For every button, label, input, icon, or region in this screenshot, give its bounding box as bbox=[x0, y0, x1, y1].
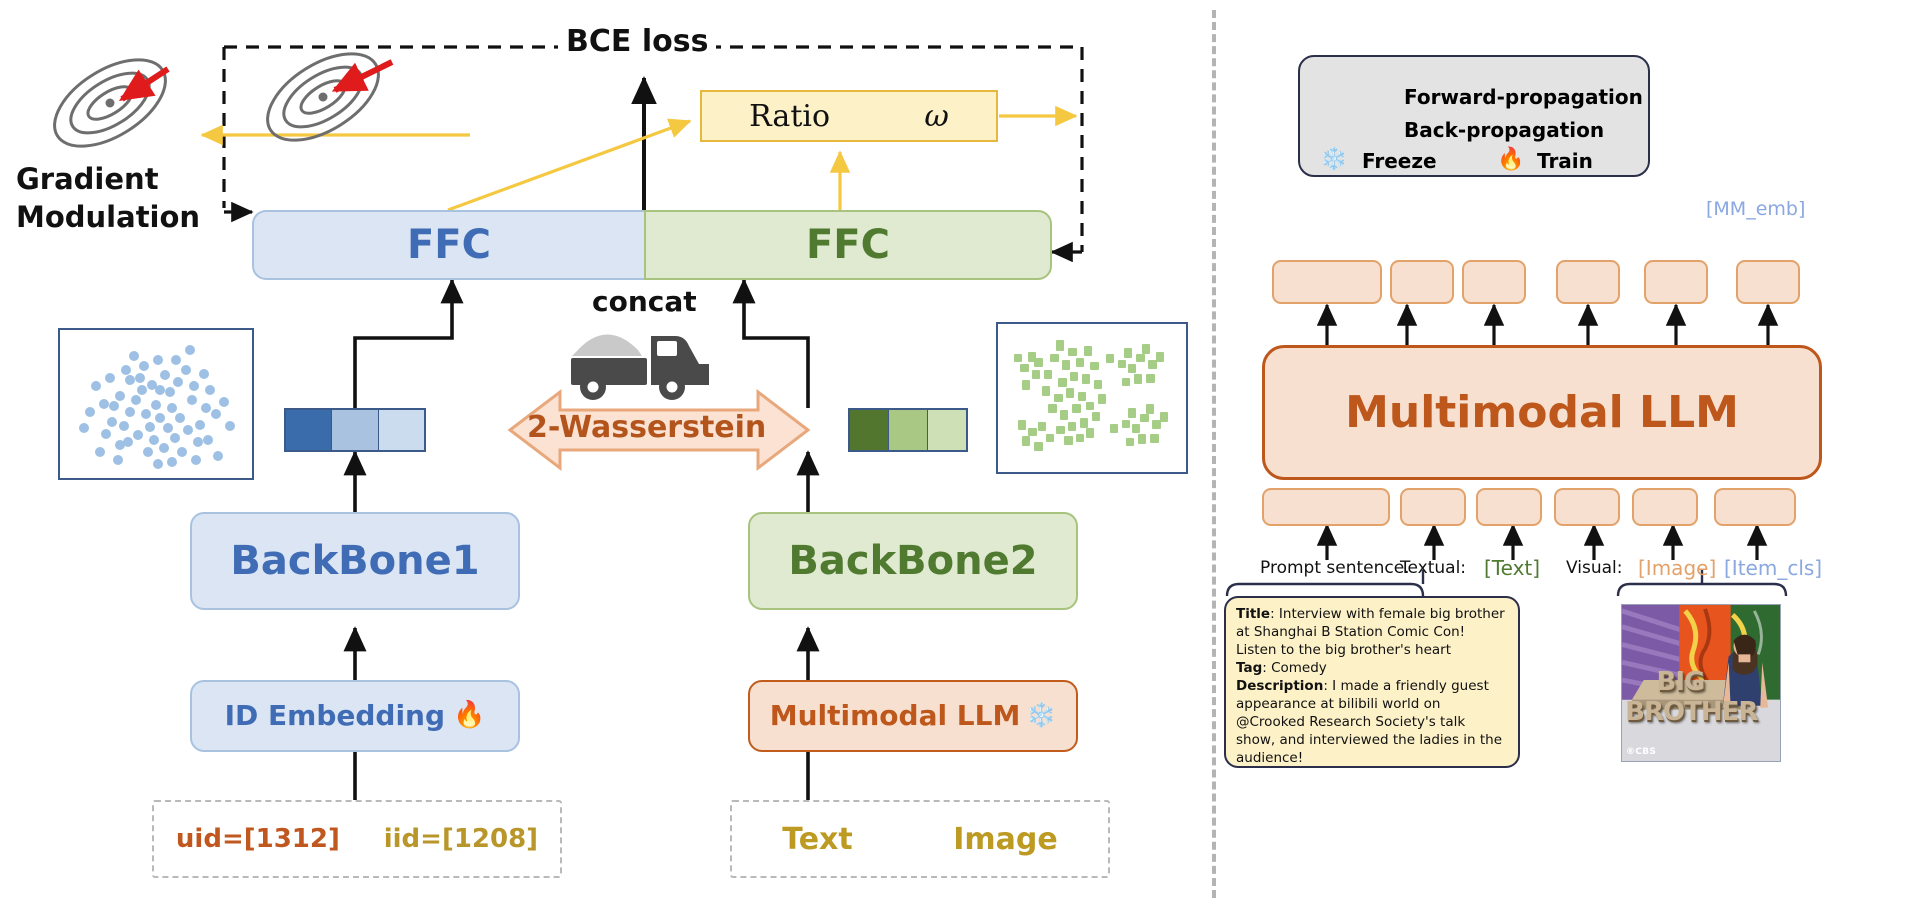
fire-icon: 🔥 bbox=[1497, 147, 1524, 172]
gradient-modulation-label-line1: Gradient bbox=[16, 162, 159, 196]
legend-item-backward-label: Back-propagation bbox=[1404, 118, 1604, 142]
mm-token-cell-1 bbox=[850, 410, 889, 450]
thumbnail-watermark: ®CBS bbox=[1626, 747, 1656, 757]
output-token-5 bbox=[1644, 260, 1708, 304]
info-title-value: : Interview with female big brother at S… bbox=[1236, 606, 1505, 658]
gradient-modulation-label-line2: Modulation bbox=[16, 200, 200, 234]
mm-emb-label: [MM_emb] bbox=[1706, 198, 1805, 220]
legend-item-train-label: Train bbox=[1537, 149, 1593, 173]
image-input-token: Image bbox=[953, 822, 1058, 857]
mm-token-cell-3 bbox=[928, 410, 966, 450]
backbone2-box: BackBone2 bbox=[748, 512, 1078, 610]
bce-loss-label: BCE loss bbox=[558, 24, 716, 59]
mm-token-strip bbox=[848, 408, 968, 452]
info-description-key: Description bbox=[1236, 678, 1323, 694]
multimodal-llm-box-left: Multimodal LLM ❄️ bbox=[748, 680, 1078, 752]
snowflake-icon: ❄️ bbox=[1320, 147, 1347, 172]
wasserstein-label: 2-Wasserstein bbox=[527, 410, 766, 445]
dump-truck-icon bbox=[571, 334, 709, 400]
input-token-6 bbox=[1714, 488, 1796, 526]
id-embedding-scatter-panel bbox=[58, 328, 254, 480]
multimodal-llm-label: Multimodal LLM bbox=[770, 701, 1021, 730]
uid-token: uid=[1312] bbox=[176, 824, 340, 854]
text-input-token: Text bbox=[782, 822, 853, 857]
input-token-5 bbox=[1632, 488, 1698, 526]
legend-box bbox=[1298, 55, 1650, 177]
output-token-6 bbox=[1736, 260, 1800, 304]
output-token-3 bbox=[1462, 260, 1526, 304]
multimodal-llm-box-right: Multimodal LLM bbox=[1262, 345, 1822, 480]
input-token-3 bbox=[1476, 488, 1542, 526]
iid-token: iid=[1208] bbox=[384, 824, 538, 854]
mm-token-cell-2 bbox=[889, 410, 928, 450]
item-thumbnail: BIG BROTHER ®CBS bbox=[1621, 604, 1781, 762]
id-token-strip bbox=[284, 408, 426, 452]
id-token-cell-1 bbox=[286, 410, 332, 450]
output-token-4 bbox=[1556, 260, 1620, 304]
id-input-group: uid=[1312] iid=[1208] bbox=[152, 800, 562, 878]
info-tag-key: Tag bbox=[1236, 660, 1262, 676]
item-info-card: Title: Interview with female big brother… bbox=[1224, 596, 1520, 768]
legend-item-forward-label: Forward-propagation bbox=[1404, 85, 1643, 109]
info-tag-value: : Comedy bbox=[1262, 660, 1327, 676]
output-token-2 bbox=[1390, 260, 1454, 304]
input-token-2 bbox=[1400, 488, 1466, 526]
input-label-visual: Visual: bbox=[1566, 558, 1622, 578]
ffc-right-box: FFC bbox=[644, 210, 1052, 280]
ratio-box: Ratio ω bbox=[700, 90, 998, 142]
id-token-cell-3 bbox=[379, 410, 424, 450]
fire-emoji: 🔥 bbox=[453, 702, 485, 729]
id-embedding-label: ID Embedding bbox=[225, 701, 445, 730]
backbone1-box: BackBone1 bbox=[190, 512, 520, 610]
ffc-left-box: FFC bbox=[252, 210, 644, 280]
panel-divider bbox=[1212, 10, 1216, 898]
input-token-1 bbox=[1262, 488, 1390, 526]
ratio-label: Ratio bbox=[749, 99, 830, 134]
snowflake-emoji: ❄️ bbox=[1026, 703, 1056, 728]
legend-item-freeze-label: Freeze bbox=[1362, 149, 1437, 173]
output-token-1 bbox=[1272, 260, 1382, 304]
input-label-textual: Textual: bbox=[1400, 558, 1466, 578]
green-scatter-svg bbox=[998, 324, 1186, 472]
input-label-prompt: Prompt sentence. bbox=[1260, 558, 1410, 578]
mm-embedding-scatter-panel bbox=[996, 322, 1188, 474]
input-label-text-token: [Text] bbox=[1484, 556, 1540, 580]
id-embedding-box: ID Embedding 🔥 bbox=[190, 680, 520, 752]
concat-label: concat bbox=[592, 285, 697, 318]
info-title-key: Title bbox=[1236, 606, 1270, 622]
input-label-image-token: [Image] bbox=[1638, 556, 1716, 580]
id-token-cell-2 bbox=[332, 410, 378, 450]
thumbnail-headline: BIG BROTHER bbox=[1625, 667, 1736, 727]
ratio-symbol: ω bbox=[924, 99, 948, 134]
input-label-item-cls-token: [Item_cls] bbox=[1724, 556, 1822, 580]
modality-input-group: Text Image bbox=[730, 800, 1110, 878]
input-token-4 bbox=[1554, 488, 1620, 526]
blue-scatter-svg bbox=[60, 330, 252, 478]
